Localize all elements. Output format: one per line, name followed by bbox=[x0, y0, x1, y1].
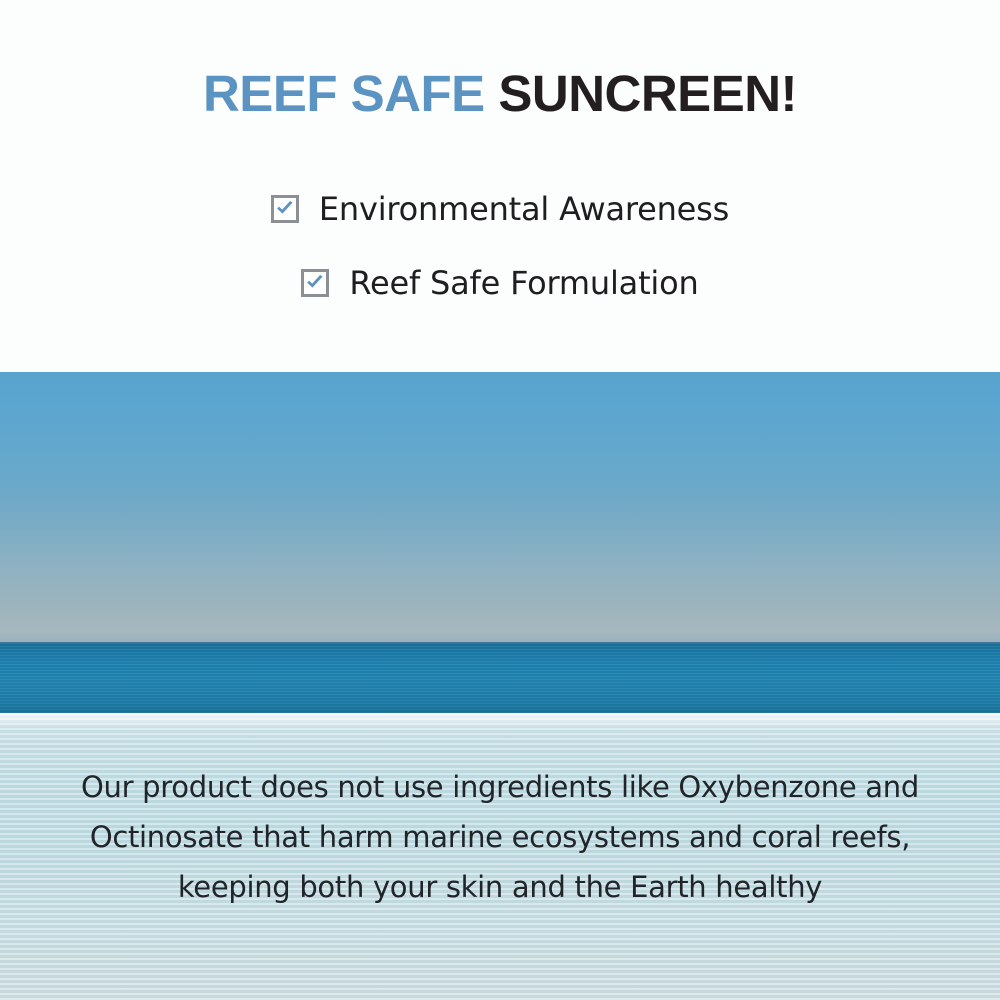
shore-highlight bbox=[0, 713, 1000, 729]
list-item[interactable]: Environmental Awareness bbox=[0, 184, 1000, 234]
page-title-highlight: REEF SAFE bbox=[203, 65, 485, 122]
horizon-haze bbox=[0, 618, 1000, 644]
page-title-rest: SUNCREEN! bbox=[498, 65, 797, 122]
page-title: REEF SAFE SUNCREEN! bbox=[0, 64, 1000, 124]
list-item[interactable]: Reef Safe Formulation bbox=[0, 258, 1000, 308]
top-white-panel: REEF SAFE SUNCREEN! Environmental Awaren… bbox=[0, 0, 1000, 372]
body-paragraph: Our product does not use ingredients lik… bbox=[0, 762, 1000, 912]
sky-region bbox=[0, 372, 1000, 643]
feature-checklist: Environmental Awareness Reef Safe Formul… bbox=[0, 184, 1000, 332]
checkbox-checked-icon[interactable] bbox=[271, 195, 299, 223]
checkbox-checked-icon[interactable] bbox=[301, 269, 329, 297]
ocean-region bbox=[0, 643, 1000, 713]
feature-label-environmental-awareness: Environmental Awareness bbox=[319, 190, 729, 228]
ocean-horizon-photo: Our product does not use ingredients lik… bbox=[0, 372, 1000, 1000]
feature-label-reef-safe-formulation: Reef Safe Formulation bbox=[349, 264, 698, 302]
marketing-panel: REEF SAFE SUNCREEN! Environmental Awaren… bbox=[0, 0, 1000, 1000]
